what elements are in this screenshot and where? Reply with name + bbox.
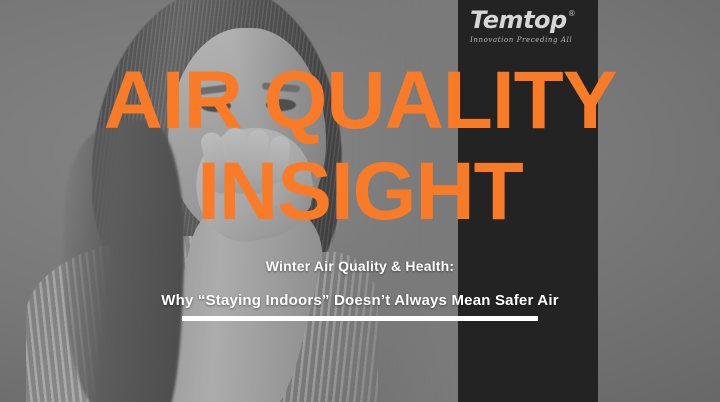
eye-left — [201, 100, 231, 112]
subtitle-line-2: Why “Staying Indoors” Doesn’t Always Mea… — [0, 292, 720, 309]
brand-logo: Temtop® Innovation Preceding All — [470, 8, 590, 44]
dark-panel — [458, 0, 598, 402]
brand-tagline: Innovation Preceding All — [470, 36, 590, 44]
subject-photo — [0, 0, 470, 402]
eye-right — [266, 99, 296, 111]
air-quality-insight-banner: Temtop® Innovation Preceding All AIR QUA… — [0, 0, 720, 402]
registered-trademark-icon: ® — [568, 9, 576, 18]
subtitle-line-1: Winter Air Quality & Health: — [0, 258, 720, 274]
photo-fade-mask — [330, 0, 470, 402]
brand-wordmark: Temtop — [470, 8, 567, 32]
subtitle-underline-rule — [182, 316, 538, 321]
subtitle-block: Winter Air Quality & Health: Why “Stayin… — [0, 258, 720, 321]
